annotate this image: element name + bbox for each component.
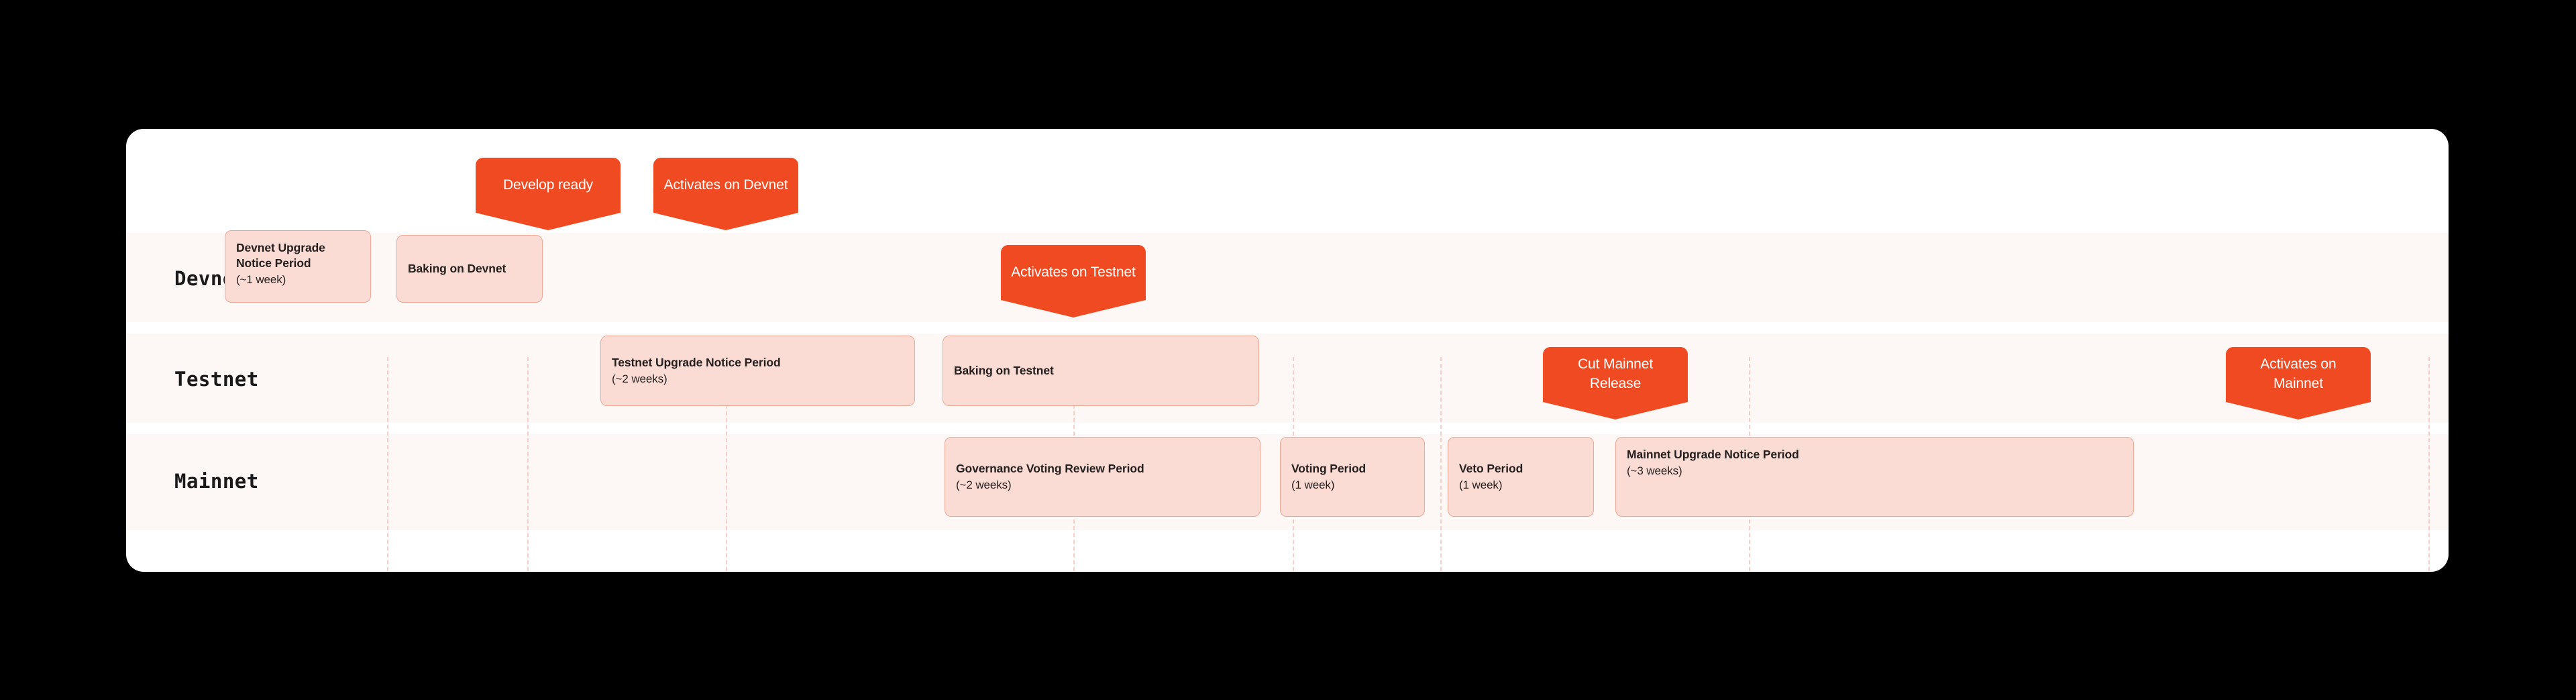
block-title: Devnet Upgrade Notice Period xyxy=(236,240,360,271)
milestone-label: Cut Mainnet Release xyxy=(1551,355,1680,394)
block-baking-on-devnet[interactable]: Baking on Devnet xyxy=(396,235,543,303)
gridline-6 xyxy=(1440,357,1442,572)
screenshot-stage: Devnet Testnet Mainnet Devnet Upgrade No… xyxy=(0,0,2576,700)
block-duration: (~2 weeks) xyxy=(612,372,904,387)
milestone-badge-activates-testnet[interactable]: Activates on Testnet xyxy=(1001,245,1146,300)
block-duration: (~1 week) xyxy=(236,272,360,287)
block-title: Governance Voting Review Period xyxy=(956,461,1249,477)
block-duration: (~2 weeks) xyxy=(956,478,1249,493)
milestone-badge-develop-ready[interactable]: Develop ready xyxy=(476,158,621,213)
gridline-1 xyxy=(387,357,388,572)
block-title: Testnet Upgrade Notice Period xyxy=(612,355,904,370)
gridline-8 xyxy=(2428,357,2430,572)
milestone-badge-activates-mainnet[interactable]: Activates on Mainnet xyxy=(2226,347,2371,402)
row-band-testnet xyxy=(126,334,2449,423)
block-title: Mainnet Upgrade Notice Period xyxy=(1627,447,2123,462)
block-title: Voting Period xyxy=(1291,461,1413,477)
row-label-testnet: Testnet xyxy=(174,368,259,391)
milestone-badge-activates-devnet[interactable]: Activates on Devnet xyxy=(653,158,798,213)
block-mainnet-upgrade-notice[interactable]: Mainnet Upgrade Notice Period (~3 weeks) xyxy=(1615,437,2134,517)
block-title: Baking on Devnet xyxy=(408,261,531,277)
block-devnet-upgrade-notice[interactable]: Devnet Upgrade Notice Period (~1 week) xyxy=(225,230,371,303)
block-baking-on-testnet[interactable]: Baking on Testnet xyxy=(943,336,1259,406)
block-governance-voting-review[interactable]: Governance Voting Review Period (~2 week… xyxy=(945,437,1260,517)
milestone-label: Develop ready xyxy=(503,176,593,195)
milestone-label: Activates on Devnet xyxy=(664,176,788,195)
timeline-card: Devnet Testnet Mainnet Devnet Upgrade No… xyxy=(126,129,2449,572)
block-voting-period[interactable]: Voting Period (1 week) xyxy=(1280,437,1425,517)
block-duration: (1 week) xyxy=(1291,478,1413,493)
row-label-mainnet: Mainnet xyxy=(174,470,259,493)
block-title: Baking on Testnet xyxy=(954,363,1248,379)
block-title: Veto Period xyxy=(1459,461,1582,477)
milestone-label: Activates on Mainnet xyxy=(2234,355,2363,394)
block-duration: (~3 weeks) xyxy=(1627,464,2123,479)
milestone-label: Activates on Testnet xyxy=(1011,263,1136,283)
milestone-badge-cut-mainnet-release[interactable]: Cut Mainnet Release xyxy=(1543,347,1688,402)
block-duration: (1 week) xyxy=(1459,478,1582,493)
block-testnet-upgrade-notice[interactable]: Testnet Upgrade Notice Period (~2 weeks) xyxy=(600,336,915,406)
gridline-2 xyxy=(527,357,529,572)
block-veto-period[interactable]: Veto Period (1 week) xyxy=(1448,437,1594,517)
